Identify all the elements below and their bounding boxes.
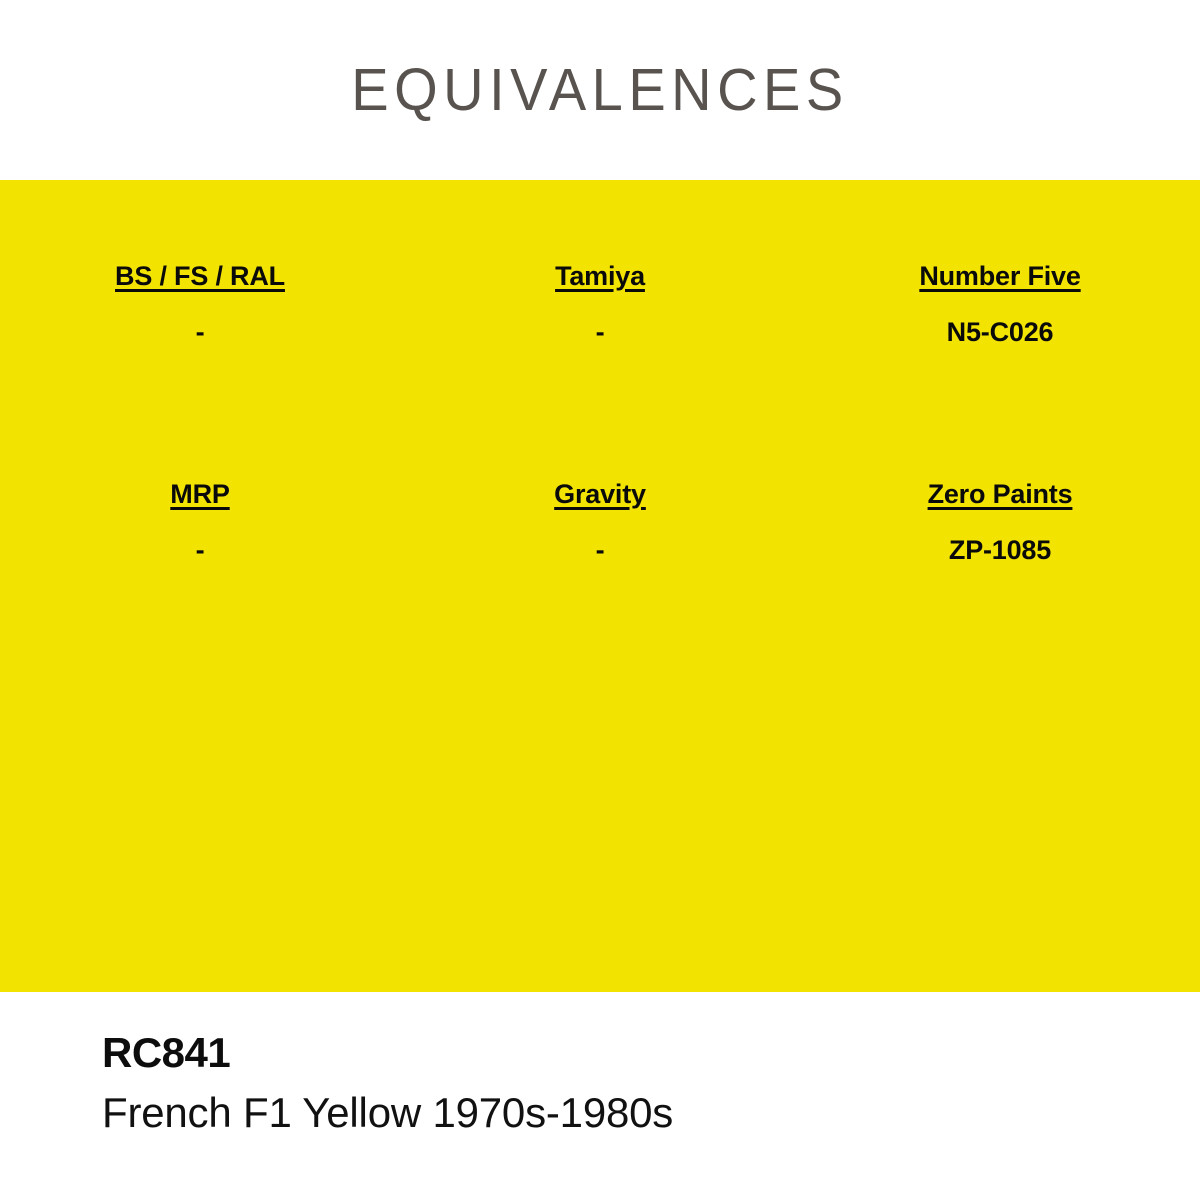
equivalence-brand-label: Gravity (554, 480, 646, 510)
page-title: EQUIVALENCES (351, 60, 849, 119)
paint-name: French F1 Yellow 1970s-1980s (102, 1089, 1200, 1137)
equivalence-brand-label: Tamiya (555, 262, 645, 292)
equivalence-brand-label: MRP (170, 480, 229, 510)
equivalence-brand-value: ZP-1085 (949, 536, 1051, 566)
equivalence-cell-mrp: MRP - (0, 420, 400, 660)
color-swatch-panel: BS / FS / RAL - Tamiya - Number Five N5-… (0, 180, 1200, 992)
equivalence-brand-value: - (596, 318, 605, 348)
paint-equivalence-card: EQUIVALENCES BS / FS / RAL - Tamiya - Nu… (0, 0, 1200, 1200)
equivalence-brand-label: Zero Paints (928, 480, 1073, 510)
equivalence-cell-gravity: Gravity - (400, 420, 800, 660)
paint-code: RC841 (102, 1030, 1200, 1076)
card-footer: RC841 French F1 Yellow 1970s-1980s (0, 992, 1200, 1200)
equivalence-brand-value: - (196, 536, 205, 566)
equivalence-cell-number-five: Number Five N5-C026 (800, 180, 1200, 420)
equivalence-cell-tamiya: Tamiya - (400, 180, 800, 420)
equivalence-brand-value: - (196, 318, 205, 348)
equivalence-brand-label: BS / FS / RAL (115, 262, 285, 292)
card-header: EQUIVALENCES (0, 0, 1200, 180)
equivalences-grid: BS / FS / RAL - Tamiya - Number Five N5-… (0, 180, 1200, 660)
equivalence-cell-zero-paints: Zero Paints ZP-1085 (800, 420, 1200, 660)
equivalence-cell-bs-fs-ral: BS / FS / RAL - (0, 180, 400, 420)
equivalence-brand-label: Number Five (919, 262, 1080, 292)
equivalence-brand-value: N5-C026 (947, 318, 1054, 348)
equivalence-brand-value: - (596, 536, 605, 566)
